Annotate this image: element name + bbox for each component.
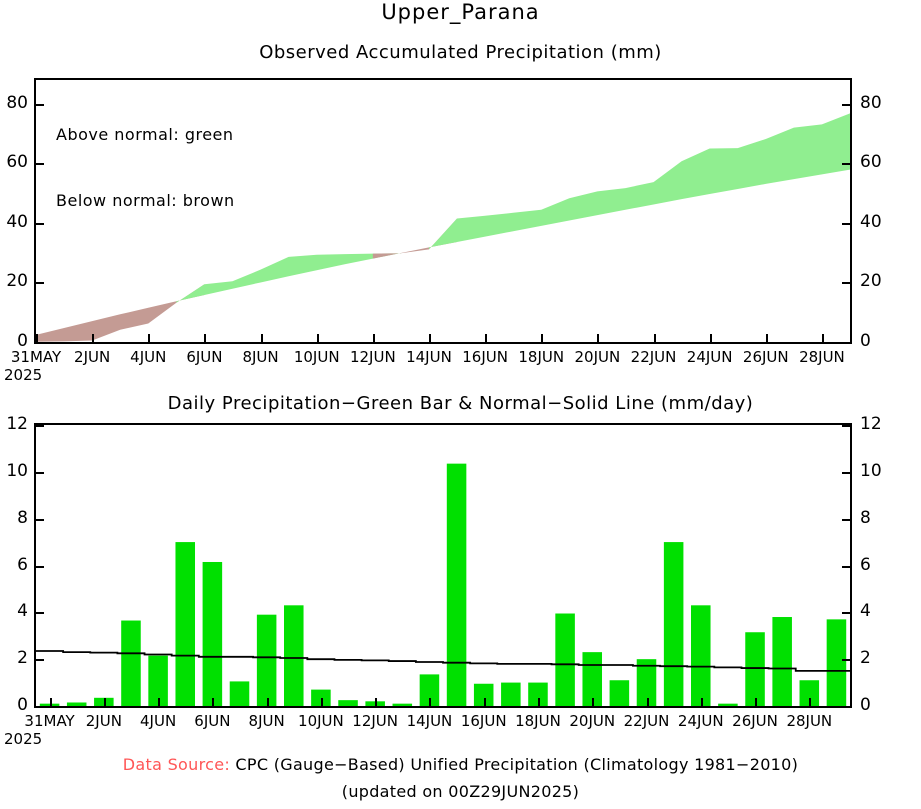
accumulated-ytick-label: 80 — [860, 93, 900, 113]
legend-below-normal: Below normal: brown — [56, 190, 235, 212]
daily-xtick-mark — [647, 698, 649, 706]
daily-precip-bar — [691, 605, 711, 706]
accumulated-xtick-label: 18JUN — [518, 348, 564, 366]
daily-ytick-label: 12 — [0, 414, 34, 434]
daily-ytick-label: 4 — [860, 601, 900, 621]
accumulated-xtick-label: 31MAY — [11, 348, 61, 366]
daily-xtick-mark — [267, 698, 269, 706]
daily-ytick-label: 8 — [860, 508, 900, 528]
daily-ytick-mark — [36, 659, 44, 661]
daily-ytick-mark — [842, 472, 850, 474]
daily-xtick-mark — [484, 698, 486, 706]
accumulated-ytick-mark — [842, 104, 850, 106]
accumulated-panel-title: Observed Accumulated Precipitation (mm) — [0, 42, 921, 63]
page-title: Upper_Parana — [0, 0, 921, 24]
accumulated-xtick-label: 2JUN — [74, 348, 110, 366]
accumulated-xtick-mark — [317, 334, 319, 342]
accumulated-xtick-mark — [36, 334, 38, 342]
accumulated-ytick-mark — [842, 163, 850, 165]
accumulated-xtick-label: 22JUN — [631, 348, 677, 366]
accumulated-ytick-label: 60 — [860, 152, 900, 172]
daily-ytick-label: 12 — [860, 414, 900, 434]
accumulated-xtick-label: 16JUN — [462, 348, 508, 366]
daily-xtick-mark — [755, 698, 757, 706]
accumulated-xtick-mark — [766, 334, 768, 342]
daily-xtick-mark — [809, 698, 811, 706]
daily-precip-bar — [230, 681, 250, 706]
accumulated-xtick-mark — [541, 334, 543, 342]
accumulated-ytick-mark — [36, 163, 44, 165]
daily-ytick-label: 2 — [860, 648, 900, 668]
accumulated-ytick-label: 60 — [0, 152, 34, 172]
accumulated-xtick-mark — [710, 334, 712, 342]
daily-ytick-label: 6 — [0, 555, 34, 575]
daily-precip-bar — [827, 619, 847, 706]
accumulated-xtick-mark — [92, 334, 94, 342]
daily-bar-svg — [36, 425, 850, 706]
accumulated-ytick-mark — [36, 104, 44, 106]
accumulated-ytick-mark — [842, 223, 850, 225]
accumulated-xtick-label: 28JUN — [799, 348, 845, 366]
data-source-text: CPC (Gauge−Based) Unified Precipitation … — [235, 755, 798, 774]
daily-xtick-mark — [50, 698, 52, 706]
daily-precip-bar — [284, 605, 304, 706]
accumulated-ytick-label: 20 — [0, 271, 34, 291]
daily-precip-bar — [772, 617, 792, 706]
daily-xtick-mark — [701, 698, 703, 706]
accumulated-xtick-mark — [373, 334, 375, 342]
chart-page: Upper_Parana Observed Accumulated Precip… — [0, 0, 921, 809]
accumulated-ytick-mark — [36, 342, 44, 344]
daily-xtick-label: 12JUN — [352, 712, 398, 730]
daily-ytick-mark — [842, 566, 850, 568]
daily-ytick-label: 10 — [0, 461, 34, 481]
daily-xtick-mark — [158, 698, 160, 706]
daily-xtick-label: 4JUN — [140, 712, 176, 730]
accumulated-ytick-label: 20 — [860, 271, 900, 291]
accumulated-xtick-label: 14JUN — [406, 348, 452, 366]
accumulated-ytick-label: 0 — [860, 331, 900, 351]
daily-xtick-mark — [104, 698, 106, 706]
daily-xtick-mark — [212, 698, 214, 706]
accumulated-xtick-mark — [204, 334, 206, 342]
daily-ytick-label: 0 — [860, 695, 900, 715]
daily-xtick-label: 6JUN — [194, 712, 230, 730]
daily-ytick-mark — [842, 425, 850, 427]
daily-precip-bar — [175, 542, 195, 706]
daily-precipitation-plot — [34, 423, 852, 708]
daily-xtick-label: 8JUN — [249, 712, 285, 730]
daily-precip-bar — [393, 704, 413, 706]
accumulated-xtick-label: 4JUN — [130, 348, 166, 366]
daily-ytick-label: 4 — [0, 601, 34, 621]
accumulated-xtick-label: 20JUN — [575, 348, 621, 366]
daily-xtick-label: 2JUN — [86, 712, 122, 730]
accumulated-ytick-mark — [842, 342, 850, 344]
accumulated-ytick-label: 40 — [860, 212, 900, 232]
accumulated-xtick-mark — [597, 334, 599, 342]
accumulated-xtick-label: 24JUN — [687, 348, 733, 366]
daily-xtick-label: 14JUN — [407, 712, 453, 730]
daily-precip-bar — [121, 621, 141, 706]
daily-ytick-mark — [36, 519, 44, 521]
daily-xaxis-year: 2025 — [4, 730, 42, 748]
daily-precip-bar — [610, 680, 630, 706]
accumulated-xtick-mark — [822, 334, 824, 342]
daily-xtick-mark — [429, 698, 431, 706]
accumulated-xtick-label: 10JUN — [294, 348, 340, 366]
accumulated-xtick-mark — [148, 334, 150, 342]
daily-precip-bar — [664, 542, 684, 706]
accumulated-xtick-label: 6JUN — [186, 348, 222, 366]
daily-ytick-mark — [36, 706, 44, 708]
accumulated-xtick-mark — [654, 334, 656, 342]
daily-xtick-mark — [375, 698, 377, 706]
accumulated-ytick-label: 40 — [0, 212, 34, 232]
daily-ytick-mark — [36, 425, 44, 427]
daily-precip-bar — [203, 562, 223, 706]
daily-precip-bar — [447, 464, 467, 706]
daily-xtick-label: 28JUN — [786, 712, 832, 730]
daily-xtick-label: 31MAY — [24, 712, 74, 730]
daily-ytick-mark — [842, 519, 850, 521]
daily-precip-bar — [338, 700, 358, 706]
daily-ytick-label: 2 — [0, 648, 34, 668]
daily-ytick-mark — [842, 612, 850, 614]
accumulated-xtick-mark — [485, 334, 487, 342]
legend-above-normal: Above normal: green — [56, 124, 235, 146]
daily-xtick-label: 16JUN — [461, 712, 507, 730]
daily-ytick-mark — [842, 659, 850, 661]
daily-precip-bar — [501, 683, 521, 706]
daily-xtick-mark — [538, 698, 540, 706]
daily-xtick-mark — [321, 698, 323, 706]
daily-xtick-label: 10JUN — [298, 712, 344, 730]
daily-panel-title: Daily Precipitation−Green Bar & Normal−S… — [0, 393, 921, 414]
daily-xtick-label: 26JUN — [732, 712, 778, 730]
daily-ytick-label: 8 — [0, 508, 34, 528]
daily-ytick-label: 6 — [860, 555, 900, 575]
accumulated-xtick-mark — [261, 334, 263, 342]
accumulated-legend: Above normal: green Below normal: brown — [56, 80, 235, 256]
accumulated-ytick-mark — [842, 282, 850, 284]
daily-ytick-mark — [36, 566, 44, 568]
daily-ytick-label: 10 — [860, 461, 900, 481]
accumulated-xtick-label: 12JUN — [350, 348, 396, 366]
daily-ytick-mark — [36, 472, 44, 474]
daily-precip-bar — [718, 704, 738, 706]
updated-line: (updated on 00Z29JUN2025) — [0, 782, 921, 801]
daily-ytick-mark — [842, 706, 850, 708]
daily-xtick-label: 22JUN — [624, 712, 670, 730]
accumulated-xaxis-year: 2025 — [4, 366, 42, 384]
data-source-label: Data Source: — [123, 755, 230, 774]
accumulated-xtick-label: 26JUN — [743, 348, 789, 366]
daily-precip-bar — [745, 632, 765, 706]
daily-xtick-mark — [592, 698, 594, 706]
accumulated-ytick-mark — [36, 223, 44, 225]
daily-precip-bar — [67, 702, 87, 706]
daily-precip-bar — [555, 614, 575, 707]
accumulated-xtick-mark — [429, 334, 431, 342]
daily-ytick-mark — [36, 612, 44, 614]
daily-xtick-label: 24JUN — [678, 712, 724, 730]
daily-xtick-label: 20JUN — [569, 712, 615, 730]
accumulated-ytick-mark — [36, 282, 44, 284]
accumulated-ytick-label: 80 — [0, 93, 34, 113]
accumulated-xtick-label: 8JUN — [242, 348, 278, 366]
daily-xtick-label: 18JUN — [515, 712, 561, 730]
data-source-line: Data Source: CPC (Gauge−Based) Unified P… — [0, 755, 921, 774]
daily-precip-bar — [257, 615, 277, 706]
